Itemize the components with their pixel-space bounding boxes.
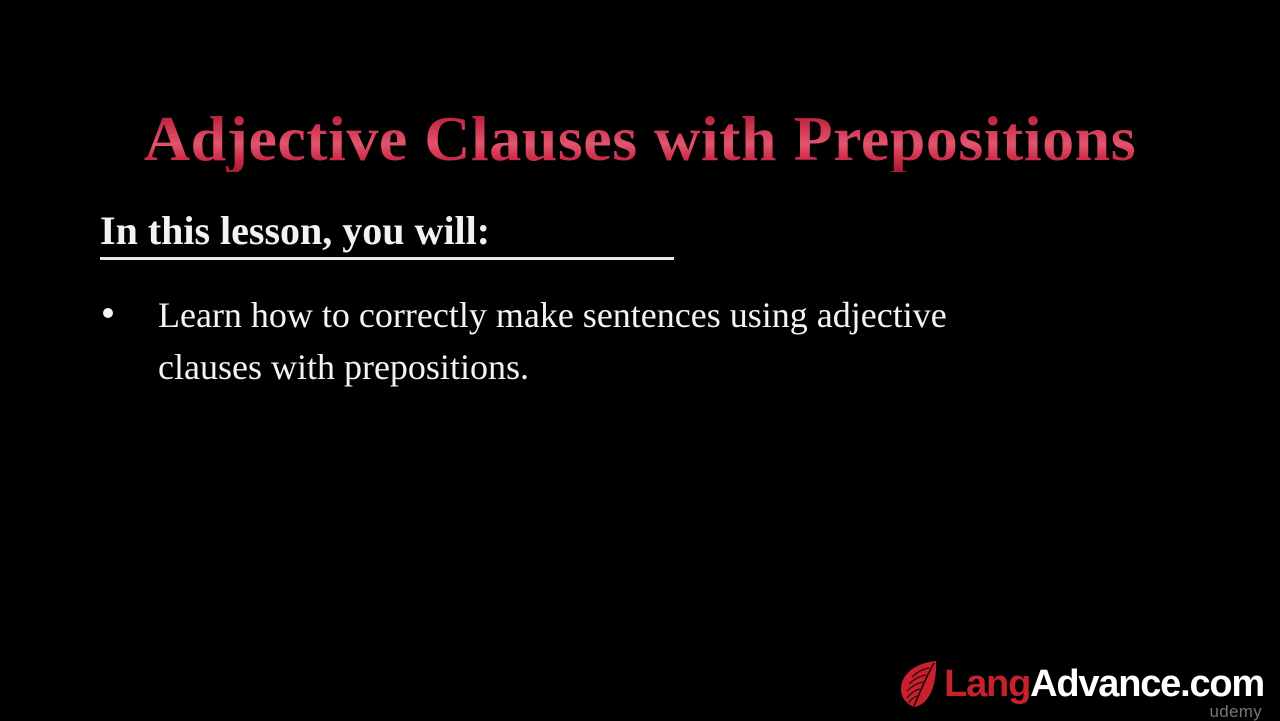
bullet-dot-icon <box>103 308 113 318</box>
list-item-text: Learn how to correctly make sentences us… <box>158 290 958 394</box>
brand-logo: LangAdvance.com udemy <box>898 658 1264 710</box>
presentation-slide: Adjective Clauses with Prepositions In t… <box>0 0 1280 720</box>
page-title: Adjective Clauses with Prepositions <box>0 105 1280 172</box>
brand-name-secondary: Advance.com <box>1030 663 1264 705</box>
lesson-heading: In this lesson, you will: <box>100 209 490 254</box>
udemy-watermark: udemy <box>1209 703 1262 720</box>
list-item: Learn how to correctly make sentences us… <box>100 290 1060 394</box>
leaf-icon <box>898 660 940 708</box>
heading-underline-rule <box>100 257 674 260</box>
objectives-list: Learn how to correctly make sentences us… <box>100 290 1060 394</box>
brand-wordmark: LangAdvance.com udemy <box>944 665 1264 703</box>
lesson-heading-group: In this lesson, you will: <box>100 209 800 254</box>
brand-name-primary: Lang <box>944 663 1030 705</box>
